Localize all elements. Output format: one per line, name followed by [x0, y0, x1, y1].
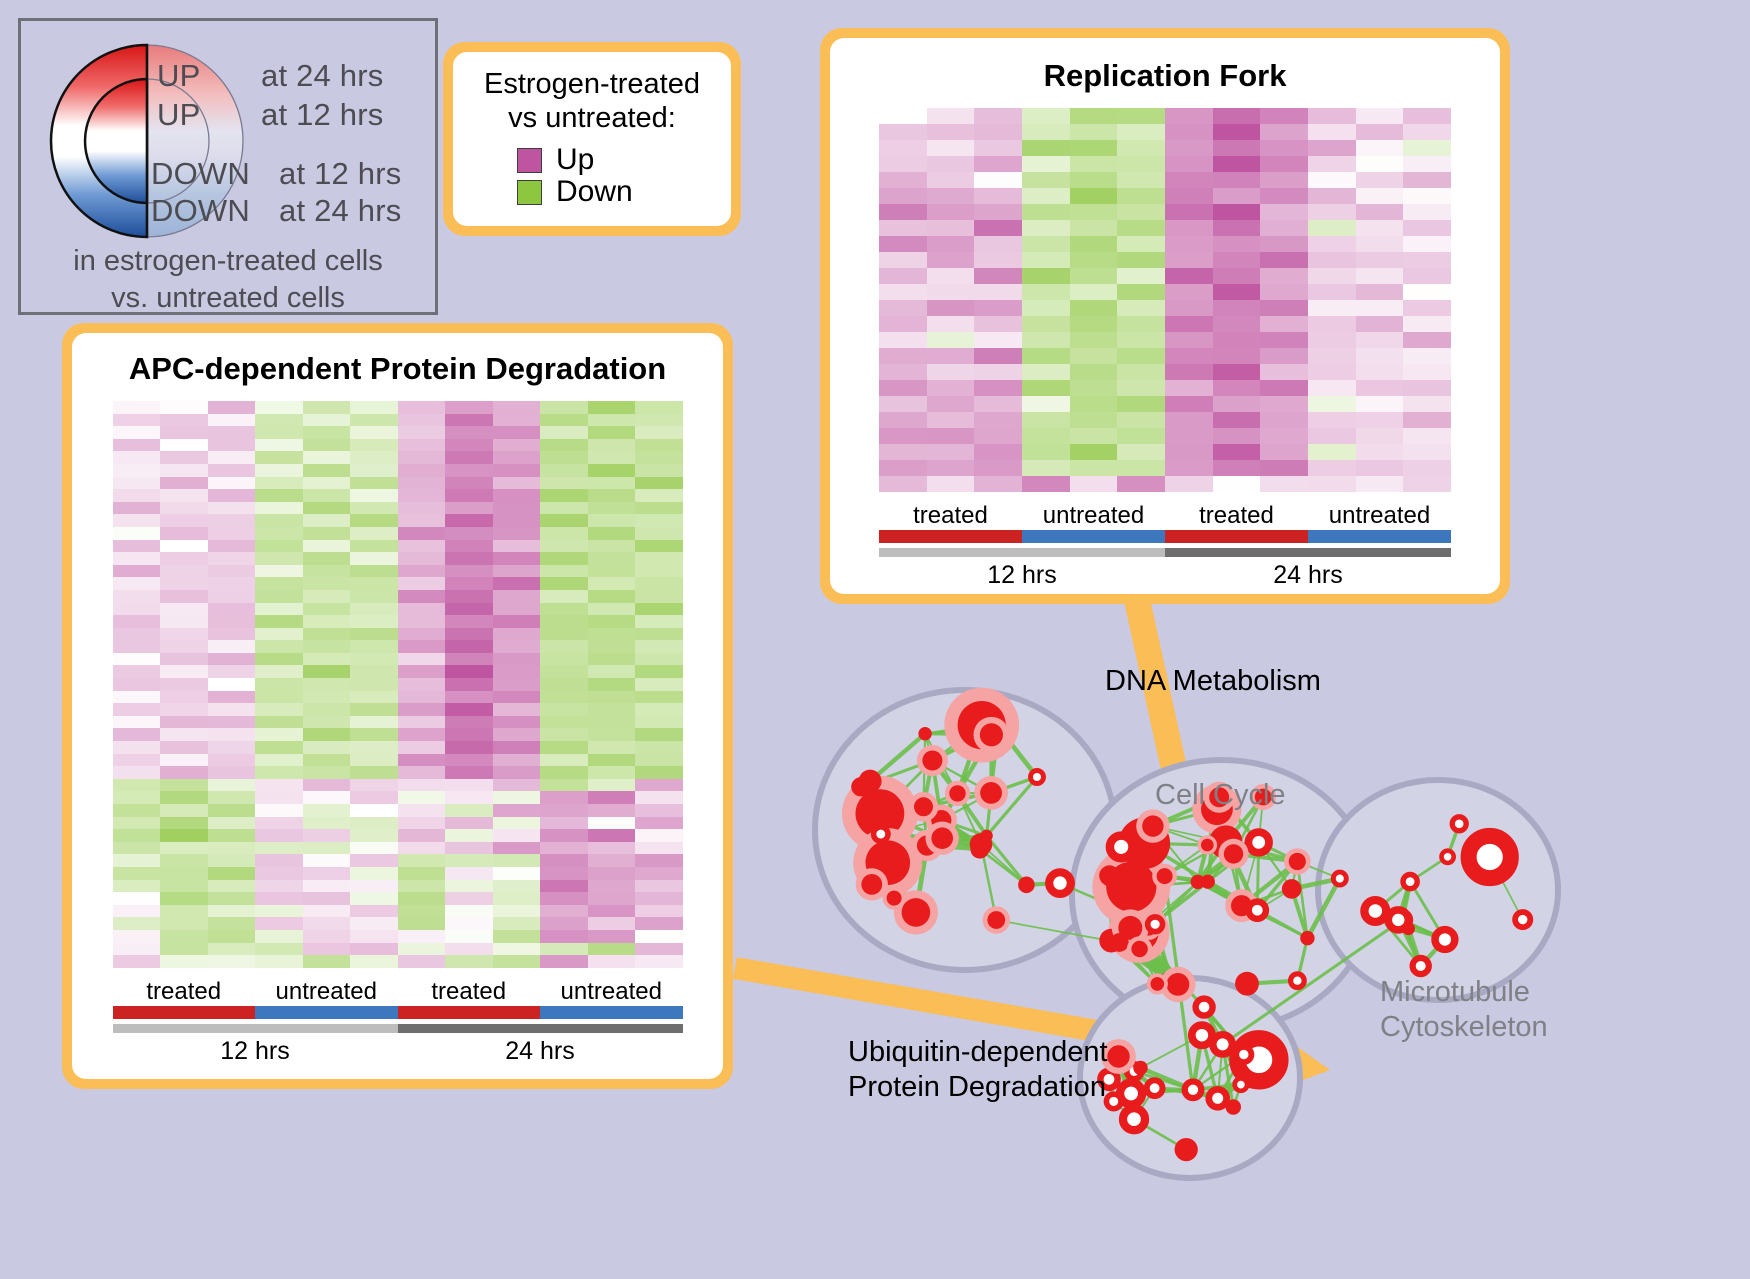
- heat-cell: [879, 476, 927, 492]
- time-colour-bar: [113, 1024, 683, 1033]
- heat-cell: [1165, 444, 1213, 460]
- heat-cell: [974, 476, 1022, 492]
- network-node[interactable]: [1209, 1089, 1227, 1107]
- node-circle: [1151, 977, 1165, 991]
- heat-cell: [1356, 460, 1404, 476]
- network-node[interactable]: [851, 777, 870, 796]
- heat-cell: [1213, 348, 1261, 364]
- heat-cell: [160, 716, 208, 729]
- heat-cell: [1356, 300, 1404, 316]
- heat-cell: [493, 665, 541, 678]
- heat-cell: [1022, 140, 1070, 156]
- network-node[interactable]: [926, 822, 959, 855]
- heat-cell: [1260, 364, 1308, 380]
- heat-cell: [208, 917, 256, 930]
- heat-cell: [974, 188, 1022, 204]
- heat-cell: [879, 348, 927, 364]
- node-circle: [1469, 836, 1511, 878]
- heat-cell: [398, 426, 446, 439]
- heat-cell: [540, 716, 588, 729]
- node-circle: [1157, 868, 1173, 884]
- heat-cell: [113, 880, 161, 893]
- heat-cell: [493, 653, 541, 666]
- network-node[interactable]: [1435, 930, 1455, 950]
- heat-cell: [1356, 476, 1404, 492]
- heat-cell: [350, 728, 398, 741]
- heat-cell: [927, 476, 975, 492]
- heat-cell: [1022, 396, 1070, 412]
- heat-cell: [160, 414, 208, 427]
- condition-label-row: treated untreated treated untreated: [113, 978, 683, 1006]
- network-node[interactable]: [917, 745, 948, 776]
- network-node[interactable]: [1452, 817, 1466, 831]
- heat-cell: [208, 892, 256, 905]
- heat-cell: [398, 754, 446, 767]
- heat-cell: [303, 766, 351, 779]
- network-node[interactable]: [1213, 1035, 1232, 1054]
- network-node[interactable]: [1413, 958, 1429, 974]
- heat-cell: [113, 905, 161, 918]
- heat-cell: [160, 754, 208, 767]
- heat-cell: [113, 678, 161, 691]
- heat-cell: [303, 741, 351, 754]
- heat-cell: [1260, 460, 1308, 476]
- heat-cell: [445, 791, 493, 804]
- heat-cell: [635, 477, 683, 490]
- key-title: Estrogen-treated vs untreated:: [463, 68, 721, 135]
- heat-cell: [398, 603, 446, 616]
- heat-cell: [1165, 252, 1213, 268]
- heat-cell: [635, 829, 683, 842]
- heat-cell: [540, 817, 588, 830]
- heat-cell: [635, 552, 683, 565]
- heat-cell: [927, 140, 975, 156]
- heat-cell: [588, 880, 636, 893]
- heat-cell: [540, 540, 588, 553]
- heat-cell: [445, 414, 493, 427]
- heat-cell: [540, 754, 588, 767]
- network-node[interactable]: [1201, 875, 1215, 889]
- network-node[interactable]: [1249, 902, 1266, 919]
- heat-cell: [255, 464, 303, 477]
- heat-cell: [208, 842, 256, 855]
- heat-cell: [1165, 204, 1213, 220]
- heat-cell: [208, 754, 256, 767]
- heat-cell: [445, 426, 493, 439]
- heat-cell: [540, 527, 588, 540]
- heat-cell: [160, 565, 208, 578]
- heat-cell: [540, 514, 588, 527]
- heat-cell: [398, 955, 446, 968]
- heat-cell: [588, 665, 636, 678]
- network-node[interactable]: [883, 887, 906, 910]
- heat-cell: [113, 540, 161, 553]
- heat-cell: [1022, 252, 1070, 268]
- heat-cell: [635, 590, 683, 603]
- heat-cell: [445, 716, 493, 729]
- heat-cell: [208, 590, 256, 603]
- heat-cell: [445, 943, 493, 956]
- heat-cell: [635, 917, 683, 930]
- network-node[interactable]: [1136, 809, 1169, 842]
- network-node[interactable]: [1300, 931, 1314, 945]
- heat-cell: [927, 108, 975, 124]
- heat-cell: [445, 615, 493, 628]
- heat-cell: [493, 451, 541, 464]
- heat-cell: [1356, 236, 1404, 252]
- figure-canvas: UP at 24 hrs UP at 12 hrs DOWN at 12 hrs…: [0, 0, 1750, 1279]
- heat-cell: [1308, 252, 1356, 268]
- heat-cell: [1213, 220, 1261, 236]
- network-node[interactable]: [1110, 933, 1129, 952]
- heat-cell: [208, 741, 256, 754]
- heat-cell: [350, 917, 398, 930]
- heat-cell: [588, 502, 636, 515]
- node-circle: [1282, 879, 1302, 899]
- heat-cell: [1022, 124, 1070, 140]
- heat-cell: [398, 892, 446, 905]
- heat-cell: [255, 477, 303, 490]
- network-node[interactable]: [974, 717, 1010, 753]
- heat-cell: [493, 577, 541, 590]
- heat-cell: [113, 577, 161, 590]
- heat-cell: [208, 489, 256, 502]
- heat-cell: [113, 665, 161, 678]
- heat-cell: [540, 779, 588, 792]
- network-node[interactable]: [1147, 973, 1168, 994]
- heat-cell: [588, 464, 636, 477]
- network-node[interactable]: [1152, 864, 1177, 889]
- network-node[interactable]: [1291, 974, 1305, 988]
- heat-cell: [1165, 332, 1213, 348]
- heat-cell: [927, 300, 975, 316]
- heat-cell: [350, 691, 398, 704]
- heat-cell: [1356, 204, 1404, 220]
- wheel-time-0: at 24 hrs: [261, 58, 383, 94]
- heat-cell: [493, 703, 541, 716]
- heat-cell: [208, 653, 256, 666]
- time-label-row: 12 hrs 24 hrs: [879, 561, 1451, 590]
- network-node[interactable]: [1185, 1082, 1202, 1099]
- network-node[interactable]: [1236, 1047, 1251, 1062]
- heat-cell: [160, 464, 208, 477]
- heat-cell: [160, 527, 208, 540]
- heat-cell: [113, 514, 161, 527]
- heat-cell: [445, 665, 493, 678]
- heat-cell: [445, 754, 493, 767]
- network-node[interactable]: [1133, 1061, 1147, 1075]
- heat-cell: [588, 451, 636, 464]
- heat-cell: [255, 716, 303, 729]
- heat-cell: [160, 930, 208, 943]
- heat-cell: [974, 236, 1022, 252]
- heat-cell: [879, 332, 927, 348]
- network-node[interactable]: [1284, 848, 1311, 875]
- heat-cell: [255, 892, 303, 905]
- heat-cell: [255, 603, 303, 616]
- heat-cell: [208, 552, 256, 565]
- node-circle: [1452, 817, 1466, 831]
- heat-cell: [635, 414, 683, 427]
- network-node[interactable]: [1198, 835, 1218, 855]
- replication-fork-card: Replication Fork treated untreated treat…: [820, 28, 1510, 604]
- heat-cell: [1308, 204, 1356, 220]
- network-svg: [790, 620, 1750, 1279]
- heat-cell: [1022, 380, 1070, 396]
- heat-cell: [303, 754, 351, 767]
- heat-cell: [113, 426, 161, 439]
- key-title-line2: vs untreated:: [463, 102, 721, 136]
- node-circle: [1289, 853, 1306, 870]
- heat-cell: [588, 766, 636, 779]
- heat-cell: [255, 917, 303, 930]
- heat-cell: [398, 665, 446, 678]
- heat-cell: [350, 590, 398, 603]
- heat-cell: [1403, 252, 1451, 268]
- network-node[interactable]: [980, 830, 992, 842]
- node-circle: [1442, 851, 1454, 863]
- heat-cell: [113, 565, 161, 578]
- network-node[interactable]: [1282, 879, 1302, 899]
- heat-cell: [974, 172, 1022, 188]
- heat-cell: [635, 943, 683, 956]
- heat-cell: [879, 396, 927, 412]
- heat-cell: [1022, 156, 1070, 172]
- cluster-label-dna-metabolism: DNA Metabolism: [1105, 664, 1321, 699]
- heat-cell: [1070, 364, 1118, 380]
- heat-cell: [1403, 204, 1451, 220]
- network-node[interactable]: [1442, 851, 1454, 863]
- heat-cell: [588, 426, 636, 439]
- heat-cell: [208, 905, 256, 918]
- heat-cell: [974, 156, 1022, 172]
- heat-cell: [879, 300, 927, 316]
- heat-cell: [1356, 172, 1404, 188]
- heat-cell: [303, 577, 351, 590]
- heat-cell: [1308, 460, 1356, 476]
- heat-cell: [398, 653, 446, 666]
- heat-cell: [540, 451, 588, 464]
- network-node[interactable]: [909, 792, 939, 822]
- heat-cell: [1022, 108, 1070, 124]
- network-node[interactable]: [1235, 972, 1259, 996]
- heat-cell: [540, 791, 588, 804]
- heat-cell: [1356, 220, 1404, 236]
- heat-cell: [588, 577, 636, 590]
- heat-cell: [350, 464, 398, 477]
- network-node[interactable]: [1218, 839, 1248, 869]
- heat-cell: [1213, 124, 1261, 140]
- heat-cell: [493, 477, 541, 490]
- network-node[interactable]: [1018, 877, 1035, 894]
- heat-cell: [1356, 156, 1404, 172]
- heat-cell: [398, 577, 446, 590]
- heat-cell: [255, 804, 303, 817]
- heat-cell: [303, 905, 351, 918]
- heat-cell: [303, 565, 351, 578]
- network-node[interactable]: [1333, 872, 1346, 885]
- heat-cell: [493, 565, 541, 578]
- network-node[interactable]: [1175, 1138, 1198, 1161]
- network-node[interactable]: [1248, 832, 1269, 853]
- heat-cell: [350, 867, 398, 880]
- node-circle: [1018, 877, 1035, 894]
- heat-cell: [445, 653, 493, 666]
- heat-cell: [113, 451, 161, 464]
- heat-cell: [540, 640, 588, 653]
- heat-cell: [493, 552, 541, 565]
- heat-cell: [445, 930, 493, 943]
- network-node[interactable]: [1196, 999, 1213, 1016]
- heat-cell: [1117, 236, 1165, 252]
- heat-cell: [398, 590, 446, 603]
- heat-cell: [1356, 364, 1404, 380]
- node-circle: [1106, 1094, 1121, 1109]
- heat-cell: [927, 364, 975, 380]
- heat-cell: [1117, 284, 1165, 300]
- heat-cell: [303, 615, 351, 628]
- heat-cell: [398, 930, 446, 943]
- heat-cell: [445, 892, 493, 905]
- heat-cell: [635, 905, 683, 918]
- heat-cell: [350, 741, 398, 754]
- heat-cell: [1260, 204, 1308, 220]
- network-node[interactable]: [1148, 917, 1163, 932]
- network-node[interactable]: [1192, 1025, 1212, 1045]
- heat-cell: [1403, 332, 1451, 348]
- heat-cell: [445, 502, 493, 515]
- heat-cell: [1260, 428, 1308, 444]
- heat-cell: [1070, 460, 1118, 476]
- heat-cell: [1308, 316, 1356, 332]
- heat-cell: [303, 829, 351, 842]
- node-circle: [1147, 1080, 1163, 1096]
- heat-cell: [113, 817, 161, 830]
- heat-cell: [1403, 460, 1451, 476]
- heat-cell: [493, 867, 541, 880]
- network-node[interactable]: [1147, 1080, 1163, 1096]
- heat-cell: [208, 477, 256, 490]
- heat-cell: [1022, 284, 1070, 300]
- heat-cell: [208, 565, 256, 578]
- heat-cell: [1165, 476, 1213, 492]
- cluster-bubble-microtubule: [1318, 780, 1558, 1000]
- heat-cell: [1308, 140, 1356, 156]
- heat-cell: [398, 502, 446, 515]
- heat-cell: [974, 204, 1022, 220]
- network-node[interactable]: [1515, 912, 1530, 927]
- heat-cell: [255, 880, 303, 893]
- heat-cell: [113, 703, 161, 716]
- heat-cell: [303, 451, 351, 464]
- heat-cell: [398, 477, 446, 490]
- heat-cell: [208, 829, 256, 842]
- heat-cell: [1117, 220, 1165, 236]
- heat-cell: [113, 930, 161, 943]
- heat-cell: [1117, 476, 1165, 492]
- heat-cell: [1308, 428, 1356, 444]
- heat-cell: [255, 867, 303, 880]
- heat-cell: [1213, 236, 1261, 252]
- heat-cell: [635, 527, 683, 540]
- network-node[interactable]: [974, 776, 1008, 810]
- network-node[interactable]: [1469, 836, 1511, 878]
- network-node[interactable]: [1102, 870, 1120, 888]
- heat-cell: [255, 943, 303, 956]
- heat-cell: [160, 678, 208, 691]
- heat-cell: [255, 451, 303, 464]
- network-node[interactable]: [1110, 836, 1133, 859]
- network-node[interactable]: [1106, 1094, 1121, 1109]
- heat-cell: [588, 565, 636, 578]
- heat-cell: [303, 691, 351, 704]
- heat-cell: [635, 540, 683, 553]
- heat-cell: [1403, 300, 1451, 316]
- heat-cell: [160, 728, 208, 741]
- heat-cell: [493, 678, 541, 691]
- heat-cell: [350, 502, 398, 515]
- network-node[interactable]: [1402, 922, 1415, 935]
- network-node[interactable]: [1123, 1108, 1145, 1130]
- network-node[interactable]: [1235, 1078, 1247, 1090]
- network-node[interactable]: [1403, 875, 1417, 889]
- heat-cell: [1308, 108, 1356, 124]
- network-node[interactable]: [1049, 872, 1071, 894]
- heat-cell: [493, 514, 541, 527]
- heat-cell: [160, 426, 208, 439]
- network-node[interactable]: [1127, 936, 1152, 961]
- network-node[interactable]: [945, 781, 970, 806]
- heat-cell: [1260, 156, 1308, 172]
- heat-cell: [588, 930, 636, 943]
- heat-cell: [113, 842, 161, 855]
- heat-cell: [350, 955, 398, 968]
- network-node[interactable]: [1364, 900, 1386, 922]
- heat-cell: [540, 577, 588, 590]
- heat-cell: [1308, 348, 1356, 364]
- heat-cell: [303, 842, 351, 855]
- heat-cell: [398, 917, 446, 930]
- heat-cell: [255, 665, 303, 678]
- heat-cell: [1117, 412, 1165, 428]
- heat-cell: [303, 653, 351, 666]
- node-circle: [1102, 870, 1120, 888]
- heat-cell: [879, 140, 927, 156]
- heat-cell: [303, 728, 351, 741]
- heat-cell: [540, 653, 588, 666]
- network-node[interactable]: [983, 906, 1011, 934]
- heat-cell: [113, 527, 161, 540]
- network-node[interactable]: [874, 827, 888, 841]
- heat-cell: [255, 754, 303, 767]
- heat-cell: [1070, 204, 1118, 220]
- wheel-caption: in estrogen-treated cells vs. untreated …: [21, 243, 435, 317]
- heat-cell: [160, 552, 208, 565]
- heat-cell: [1308, 236, 1356, 252]
- apc-degradation-title: APC-dependent Protein Degradation: [72, 351, 723, 387]
- condition-label-3: untreated: [540, 978, 683, 1006]
- heat-cell: [493, 791, 541, 804]
- heat-cell: [540, 552, 588, 565]
- heat-cell: [445, 766, 493, 779]
- heat-cell: [635, 464, 683, 477]
- node-circle: [1167, 973, 1190, 996]
- heat-cell: [160, 791, 208, 804]
- network-node[interactable]: [1031, 771, 1044, 784]
- heat-cell: [588, 741, 636, 754]
- heat-cell: [160, 603, 208, 616]
- network-node[interactable]: [918, 727, 931, 740]
